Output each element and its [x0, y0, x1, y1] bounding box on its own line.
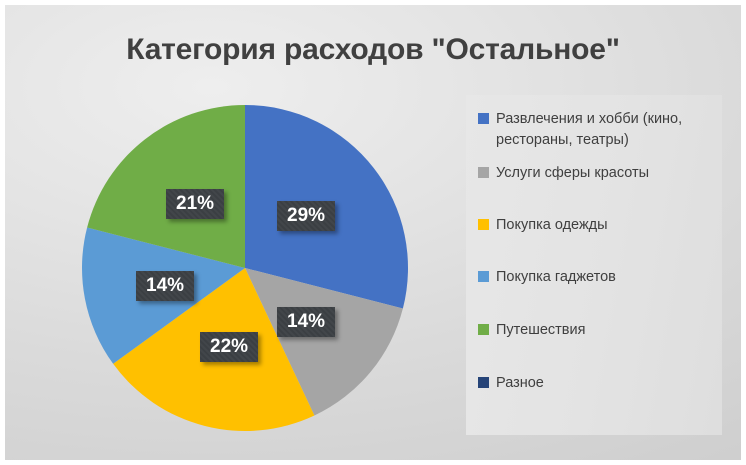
data-label-clothing: 22% — [200, 332, 258, 362]
legend-item-label: Развлечения и хобби (кино, рестораны, те… — [496, 109, 718, 151]
data-label-beauty: 14% — [277, 307, 335, 337]
legend-color-swatch-icon — [478, 113, 489, 124]
data-label-entertainment: 29% — [277, 201, 335, 231]
legend-item[interactable]: Покупка одежды — [478, 215, 718, 236]
data-label-travel: 21% — [166, 189, 224, 219]
legend-item[interactable]: Путешествия — [478, 320, 718, 341]
legend-item[interactable]: Покупка гаджетов — [478, 267, 718, 288]
pie-slice-group — [82, 105, 408, 431]
chart-plot-area: Категория расходов "Остальное" 29% 14% 2… — [5, 5, 741, 460]
legend-color-swatch-icon — [478, 219, 489, 230]
legend-color-swatch-icon — [478, 271, 489, 282]
legend-item[interactable]: Развлечения и хобби (кино, рестораны, те… — [478, 109, 718, 151]
data-label-gadgets: 14% — [136, 271, 194, 301]
legend-item-label: Покупка одежды — [496, 215, 608, 236]
legend-color-swatch-icon — [478, 324, 489, 335]
legend-item-label: Разное — [496, 373, 544, 394]
legend-item-label: Покупка гаджетов — [496, 267, 616, 288]
pie-chart[interactable] — [5, 5, 475, 460]
legend-item-label: Путешествия — [496, 320, 585, 341]
legend-item-label: Услуги сферы красоты — [496, 163, 649, 184]
pie-chart-svg — [5, 5, 475, 460]
legend-color-swatch-icon — [478, 377, 489, 388]
chart-frame: Категория расходов "Остальное" 29% 14% 2… — [0, 0, 746, 465]
legend-item[interactable]: Услуги сферы красоты — [478, 163, 718, 184]
legend-color-swatch-icon — [478, 167, 489, 178]
legend-item[interactable]: Разное — [478, 373, 718, 394]
chart-legend: Развлечения и хобби (кино, рестораны, те… — [466, 95, 722, 435]
